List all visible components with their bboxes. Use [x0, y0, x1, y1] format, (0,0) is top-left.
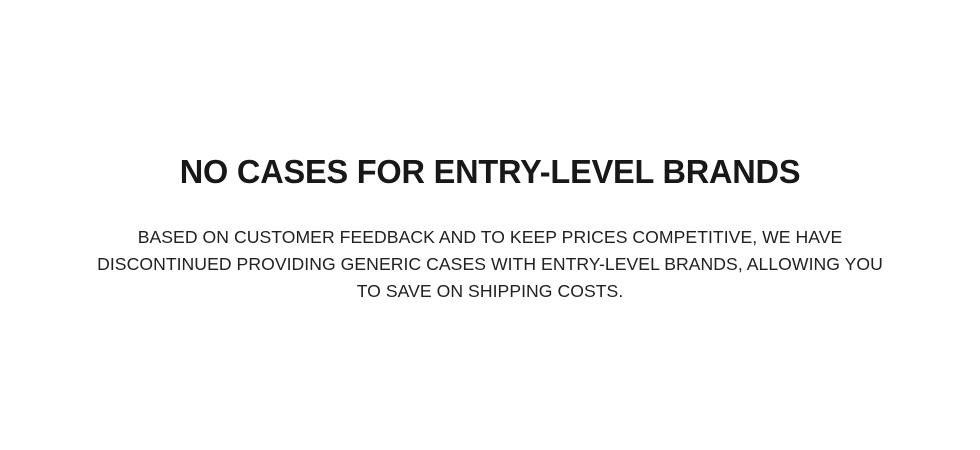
- promo-banner: NO CASES FOR ENTRY-LEVEL BRANDS BASED ON…: [0, 0, 980, 450]
- promo-description: BASED ON CUSTOMER FEEDBACK AND TO KEEP P…: [90, 192, 890, 305]
- page-title: NO CASES FOR ENTRY-LEVEL BRANDS: [180, 152, 801, 192]
